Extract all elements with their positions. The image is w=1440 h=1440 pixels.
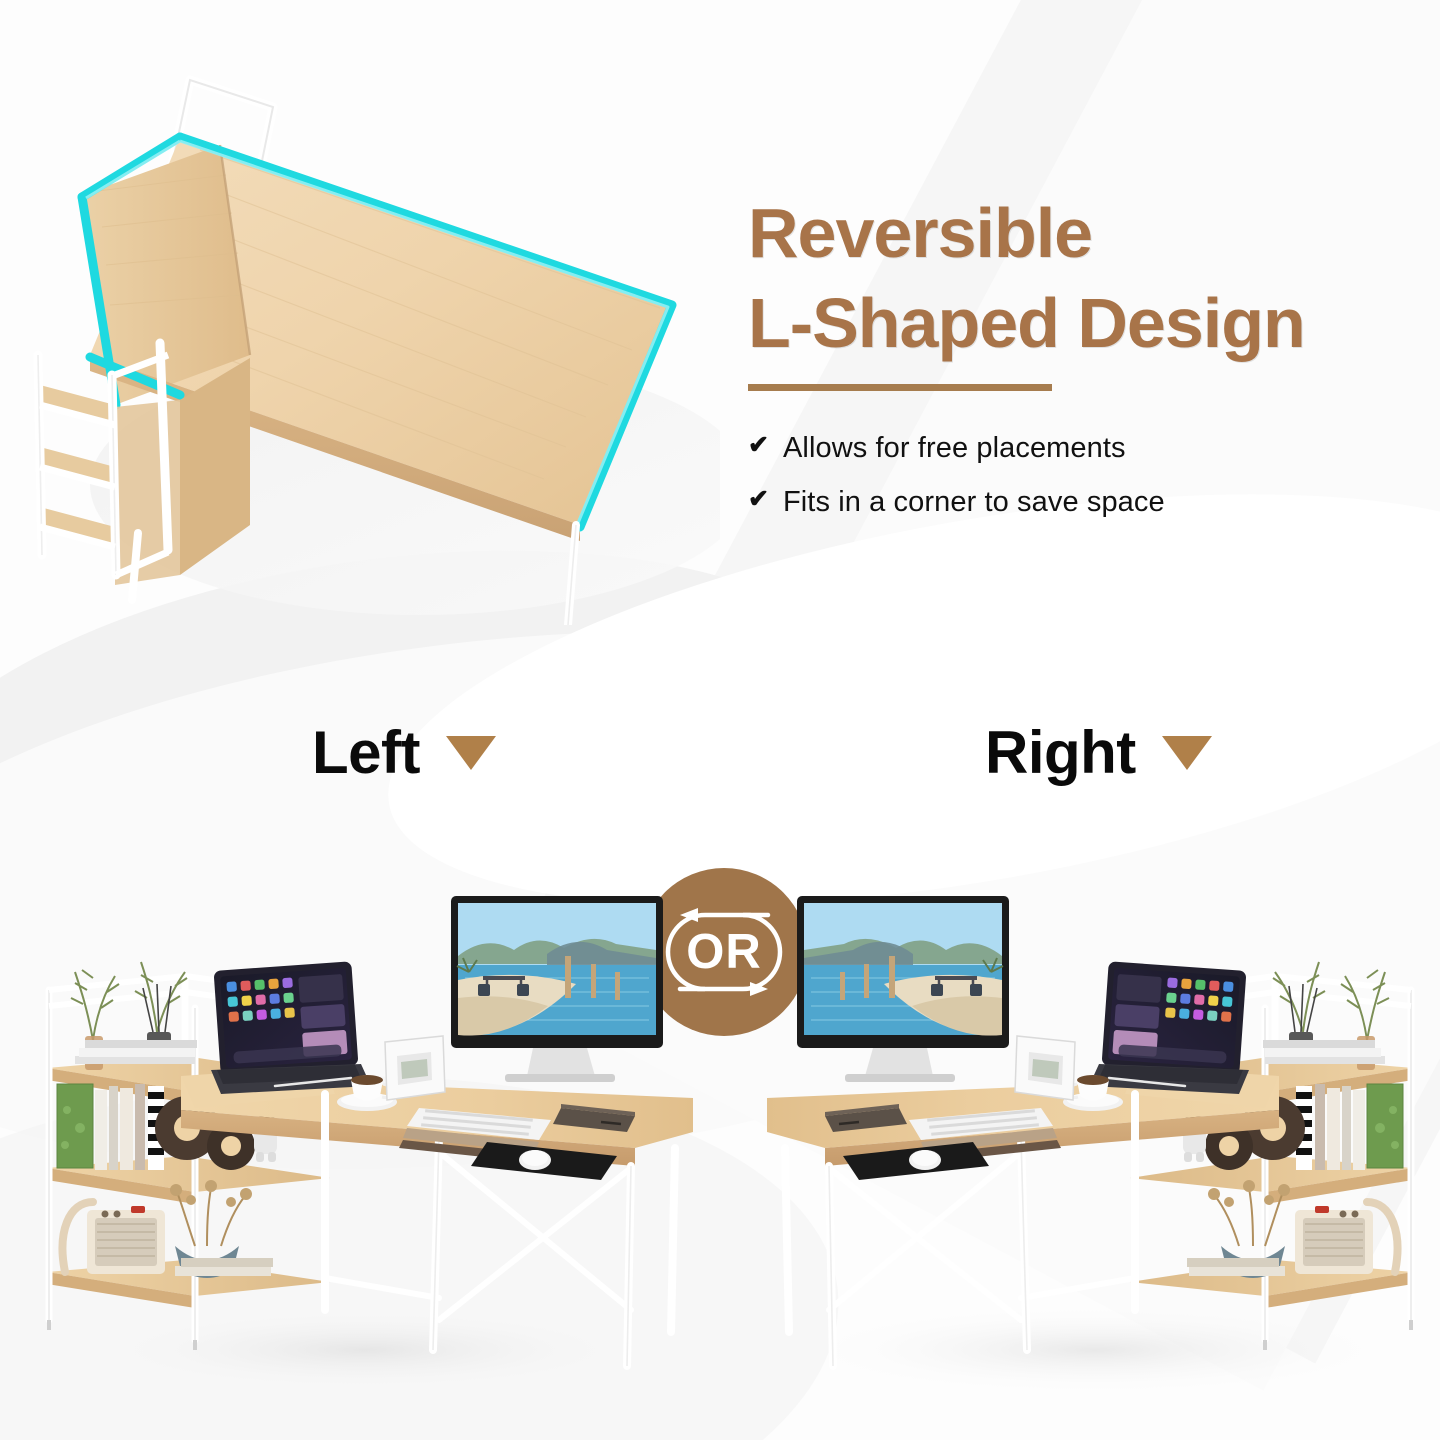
desk-setup-left-orientation <box>35 880 735 1400</box>
triangle-down-icon <box>1162 736 1212 770</box>
orientation-label-left-text: Left <box>312 718 420 787</box>
title-underline-rule <box>748 384 1052 391</box>
green-book <box>57 1084 93 1168</box>
tablet <box>1089 961 1249 1094</box>
list-item: ✔ Fits in a corner to save space <box>748 487 1368 519</box>
headline-block: Reversible L-Shaped Design ✔ Allows for … <box>748 196 1368 541</box>
check-icon: ✔ <box>748 433 769 458</box>
tablet <box>211 961 371 1094</box>
list-item <box>1353 1090 1365 1170</box>
list-item <box>95 1090 107 1170</box>
check-icon: ✔ <box>748 487 769 512</box>
list-item: ✔ Allows for free placements <box>748 433 1368 465</box>
list-item <box>1315 1084 1325 1170</box>
list-item <box>135 1084 145 1170</box>
product-infographic: Reversible L-Shaped Design ✔ Allows for … <box>0 0 1440 1440</box>
orientation-label-left: Left <box>312 718 496 787</box>
feature-bullet-list: ✔ Allows for free placements ✔ Fits in a… <box>748 433 1368 519</box>
desk-setup-right-orientation <box>725 880 1425 1400</box>
photo-frame <box>1015 1036 1075 1100</box>
monitor <box>797 896 1009 1082</box>
list-item <box>1342 1086 1351 1170</box>
bullet-text: Fits in a corner to save space <box>783 487 1165 519</box>
page-title-line-1: Reversible <box>748 196 1368 270</box>
marshall-speaker <box>1295 1202 1397 1274</box>
list-item <box>120 1088 133 1170</box>
triangle-down-icon <box>446 736 496 770</box>
list-item <box>109 1086 118 1170</box>
page-title-line-2: L-Shaped Design <box>748 286 1368 360</box>
hero-desk-illustration <box>20 55 720 625</box>
list-item <box>1327 1088 1340 1170</box>
stacked-books <box>1263 1040 1385 1064</box>
green-book <box>1367 1084 1403 1168</box>
marshall-speaker <box>63 1202 165 1274</box>
stacked-books <box>75 1040 197 1064</box>
monitor <box>451 896 663 1082</box>
orientation-label-right-text: Right <box>985 718 1136 787</box>
bullet-text: Allows for free placements <box>783 433 1126 465</box>
photo-frame <box>385 1036 445 1100</box>
orientation-label-right: Right <box>985 718 1212 787</box>
